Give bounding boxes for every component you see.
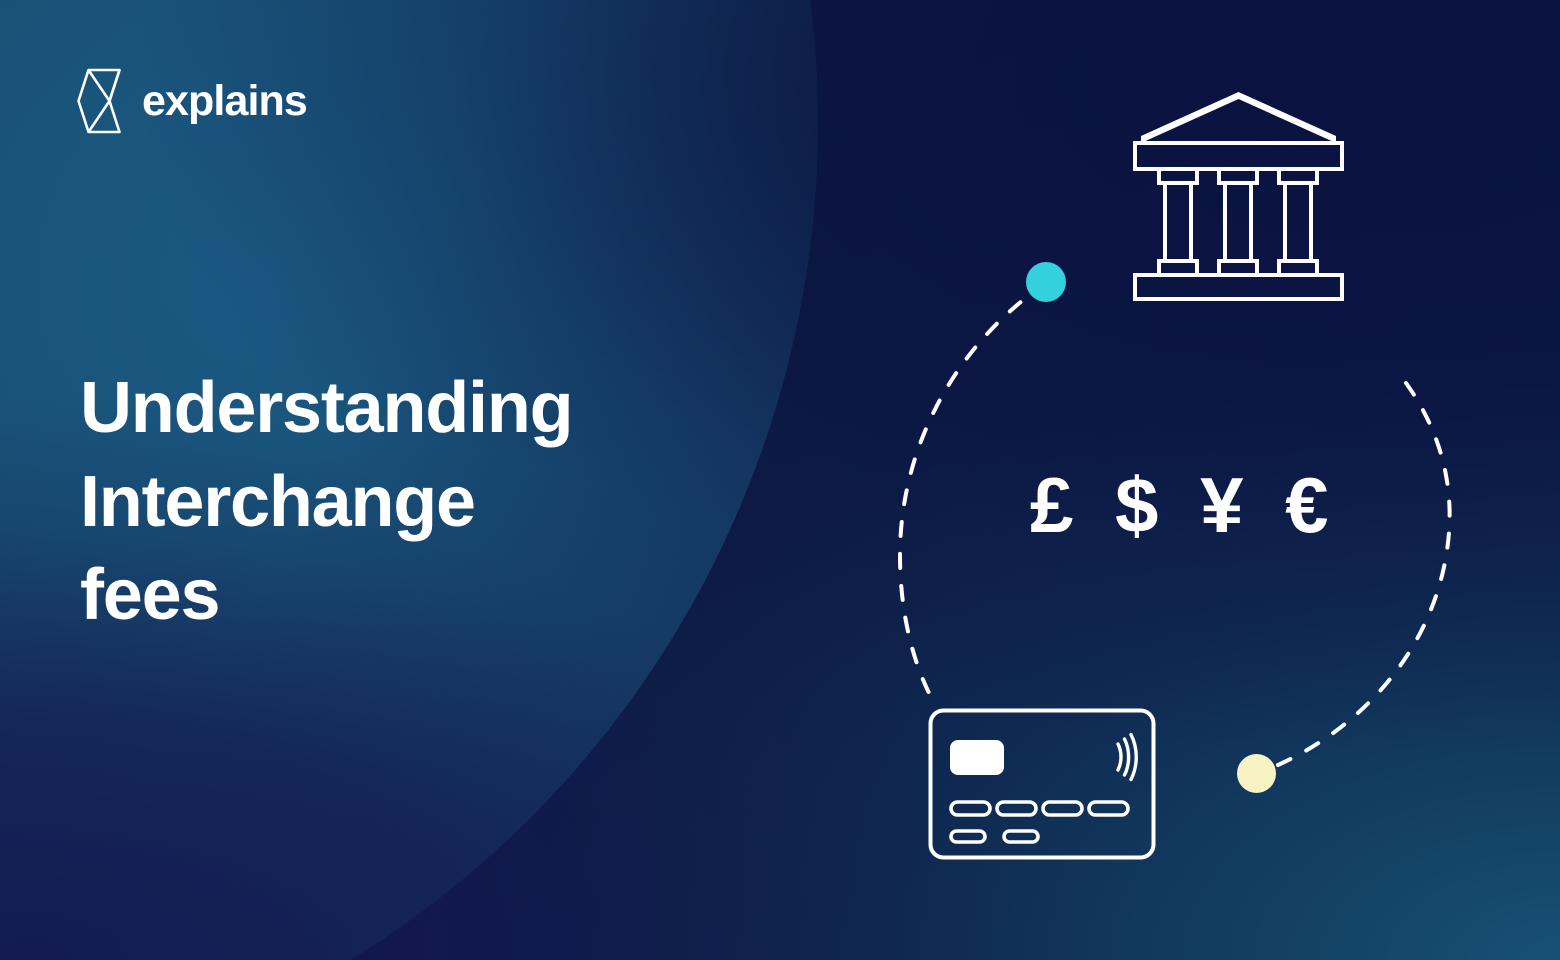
hourglass-hexagon-icon	[74, 68, 124, 134]
bank-building-icon	[1131, 88, 1346, 303]
title-line-2: Interchange	[80, 456, 760, 550]
contactless-payment-icon	[1118, 735, 1136, 780]
brand-name: explains	[142, 80, 307, 123]
yellow-flow-node-icon	[1237, 754, 1276, 793]
slide-canvas: explains Understanding Interchange fees	[0, 0, 1560, 960]
cyan-flow-node-icon	[1026, 262, 1066, 302]
dashed-arc-left	[900, 283, 1046, 695]
title-line-3: fees	[80, 549, 760, 643]
dashed-flow-arcs	[860, 255, 1480, 825]
brand-logo[interactable]: explains	[74, 68, 307, 134]
credit-card-icon	[928, 708, 1156, 860]
currency-symbols: £ $ ¥ €	[1030, 466, 1310, 544]
dashed-arc-right	[1278, 383, 1450, 765]
page-title: Understanding Interchange fees	[80, 362, 760, 643]
title-line-1: Understanding	[80, 362, 760, 456]
card-chip-icon	[950, 740, 1004, 775]
